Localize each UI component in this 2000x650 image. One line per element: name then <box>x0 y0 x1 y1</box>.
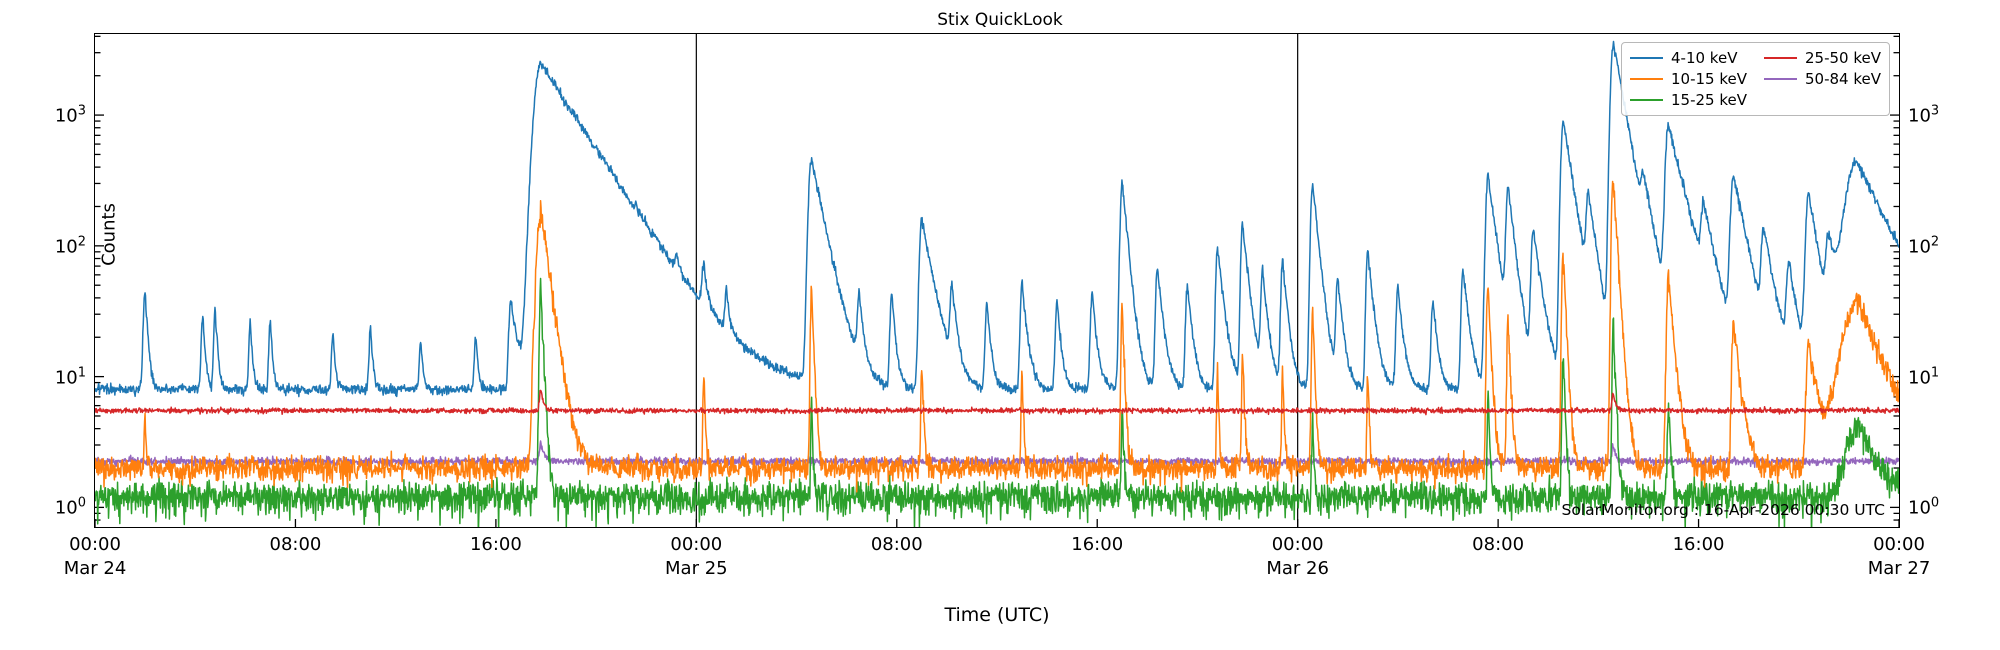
legend-swatch-icon <box>1764 78 1797 80</box>
x-tick-time: 00:00 <box>64 534 127 555</box>
y-tick-label: 101 <box>55 365 86 388</box>
x-tick-time: 00:00 <box>1868 534 1931 555</box>
legend: 4-10 keV25-50 keV10-15 keV50-84 keV15-25… <box>1621 42 1890 116</box>
x-tick-label: 16:00 <box>470 527 522 555</box>
x-tick-label: 16:00 <box>1673 527 1725 555</box>
x-tick-label: 08:00 <box>1472 527 1524 555</box>
x-tick-time: 08:00 <box>270 534 322 555</box>
x-tick-date: Mar 24 <box>64 558 127 579</box>
x-axis-title: Time (UTC) <box>94 604 1900 626</box>
x-tick-date: Mar 27 <box>1868 558 1931 579</box>
legend-swatch-icon <box>1630 78 1663 80</box>
x-tick-time: 00:00 <box>1266 534 1329 555</box>
legend-item-15-25-kev: 15-25 keV <box>1630 90 1747 110</box>
x-tick-label: 00:00Mar 25 <box>665 527 728 579</box>
chart-page: Stix QuickLook Counts 100101102103 10010… <box>0 0 2000 650</box>
credit-text: SolarMonitor.org : 16-Apr-2026 00:30 UTC <box>1561 501 1885 519</box>
y-tick-label: 102 <box>55 234 86 257</box>
legend-label: 10-15 keV <box>1671 70 1747 88</box>
x-tick-time: 16:00 <box>1071 534 1123 555</box>
legend-label: 50-84 keV <box>1805 70 1881 88</box>
x-tick-label: 08:00 <box>871 527 923 555</box>
x-tick-date: Mar 25 <box>665 558 728 579</box>
legend-swatch-icon <box>1630 99 1663 101</box>
y-tick-label: 102 <box>1908 234 1939 257</box>
legend-label: 15-25 keV <box>1671 91 1747 109</box>
legend-item-10-15-kev: 10-15 keV <box>1630 69 1747 89</box>
y-tick-label: 103 <box>1908 104 1939 127</box>
legend-item-50-84-kev: 50-84 keV <box>1764 69 1881 89</box>
x-tick-time: 16:00 <box>470 534 522 555</box>
x-tick-label: 16:00 <box>1071 527 1123 555</box>
y-tick-label: 100 <box>1908 496 1939 519</box>
y-tick-label: 103 <box>55 104 86 127</box>
x-tick-label: 00:00Mar 24 <box>64 527 127 579</box>
x-tick-date: Mar 26 <box>1266 558 1329 579</box>
x-tick-time: 08:00 <box>1472 534 1524 555</box>
legend-label: 4-10 keV <box>1671 49 1737 67</box>
plot-area: Counts 100101102103 100101102103 00:00Ma… <box>94 33 1900 528</box>
legend-swatch-icon <box>1630 57 1663 59</box>
x-tick-time: 00:00 <box>665 534 728 555</box>
chart-title: Stix QuickLook <box>0 10 2000 30</box>
legend-item-25-50-kev: 25-50 keV <box>1764 48 1881 68</box>
y-axis-title: Counts <box>99 155 120 315</box>
legend-item-4-10-kev: 4-10 keV <box>1630 48 1747 68</box>
x-tick-label: 00:00Mar 27 <box>1868 527 1931 579</box>
x-tick-time: 08:00 <box>871 534 923 555</box>
x-tick-label: 08:00 <box>270 527 322 555</box>
x-tick-label: 00:00Mar 26 <box>1266 527 1329 579</box>
legend-label: 25-50 keV <box>1805 49 1881 67</box>
series-line-10-15-kev <box>95 181 1899 491</box>
x-tick-time: 16:00 <box>1673 534 1725 555</box>
legend-swatch-icon <box>1764 57 1797 59</box>
y-tick-label: 100 <box>55 496 86 519</box>
y-tick-label: 101 <box>1908 365 1939 388</box>
